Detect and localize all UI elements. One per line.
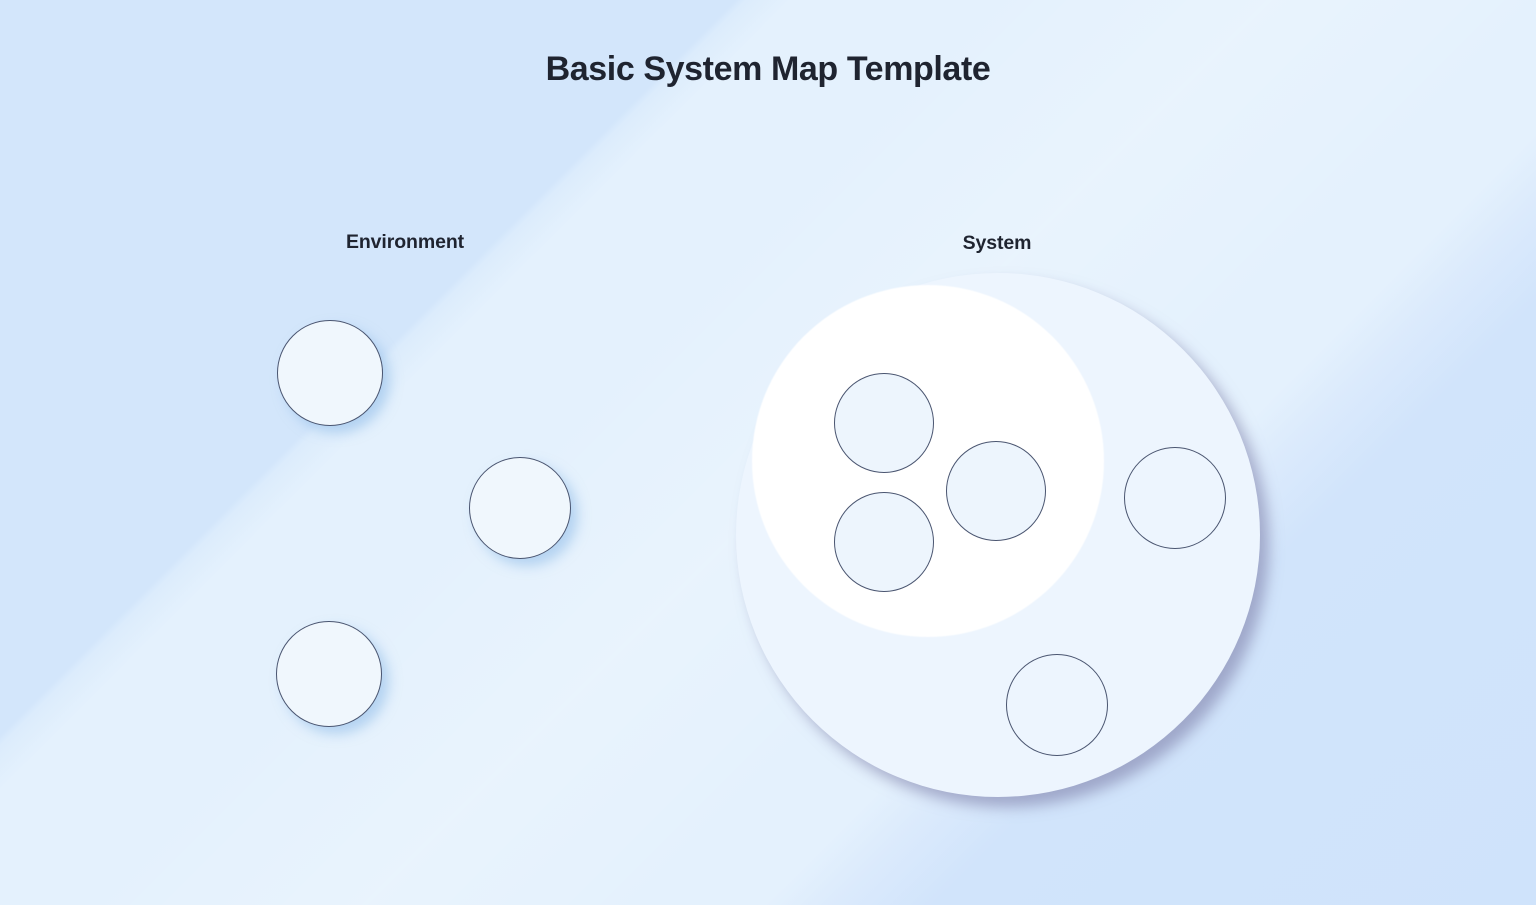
system-node[interactable] [946, 441, 1046, 541]
system-node[interactable] [834, 373, 934, 473]
page-title: Basic System Map Template [0, 49, 1536, 90]
system-node[interactable] [834, 492, 934, 592]
system-node[interactable] [1006, 654, 1108, 756]
environment-node[interactable] [276, 621, 382, 727]
group-label-environment: Environment [346, 231, 464, 254]
system-node[interactable] [1124, 447, 1226, 549]
system-core-circle[interactable] [752, 285, 1104, 637]
group-label-system: System [963, 232, 1032, 255]
environment-node[interactable] [469, 457, 571, 559]
system-map-canvas: Basic System Map Template System Environ… [0, 0, 1536, 905]
environment-node[interactable] [277, 320, 383, 426]
